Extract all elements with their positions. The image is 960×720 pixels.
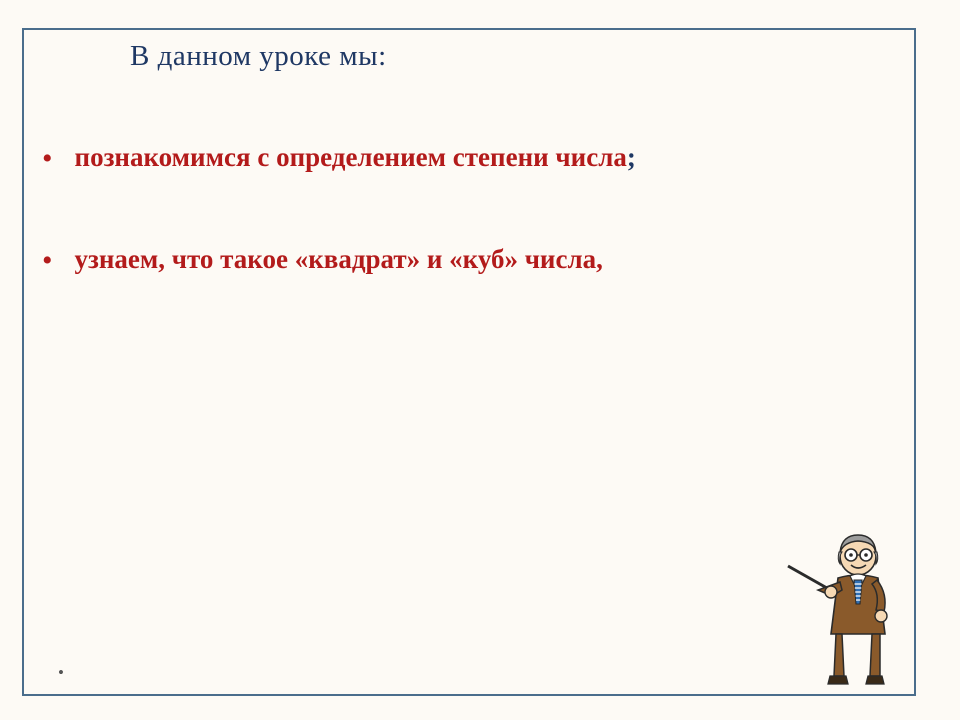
teacher-with-pointer-illustration bbox=[782, 530, 912, 692]
list-item-text: узнаем, что такое «квадрат» и «куб» числ… bbox=[75, 244, 603, 274]
bullet-marker-icon: • bbox=[42, 144, 53, 174]
page-title: В данном уроке мы: bbox=[130, 40, 387, 73]
list-item-label: узнаем, что такое «квадрат» и «куб» числ… bbox=[75, 244, 603, 275]
list-item-empty: • bbox=[58, 662, 86, 681]
bullet-marker-icon: • bbox=[58, 664, 64, 681]
list-item: • узнаем, что такое «квадрат» и «куб» чи… bbox=[42, 244, 603, 276]
list-item: • познакомимся с определением степени чи… bbox=[42, 142, 636, 174]
slide: В данном уроке мы: • познакомимся с опре… bbox=[0, 0, 960, 720]
list-item-label: познакомимся с определением степени числ… bbox=[75, 142, 636, 173]
list-item-tail: ; bbox=[627, 142, 636, 172]
list-item-text: познакомимся с определением степени числ… bbox=[75, 142, 627, 172]
bullet-marker-icon: • bbox=[42, 246, 53, 276]
